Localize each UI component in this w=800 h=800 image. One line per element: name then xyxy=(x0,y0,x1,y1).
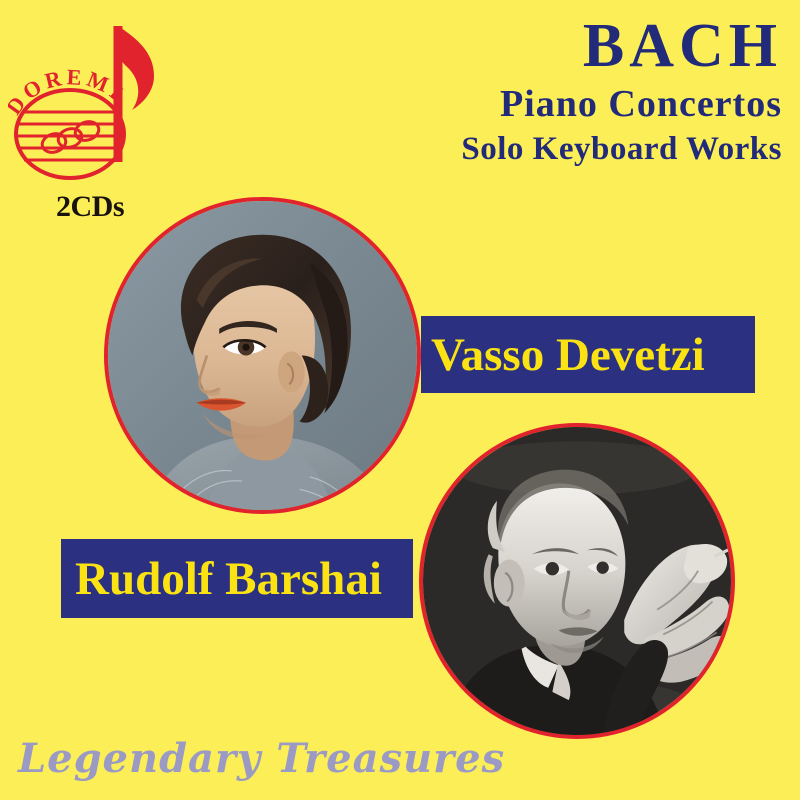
performer-name-devetzi: Vasso Devetzi xyxy=(431,328,705,382)
portrait-rudolf-barshai xyxy=(419,423,735,739)
performer-banner-devetzi: Vasso Devetzi xyxy=(421,316,755,393)
composer-title: BACH xyxy=(312,14,782,78)
performer-banner-barshai: Rudolf Barshai xyxy=(61,539,413,618)
album-cover: DOREMI 2CDs BACH Piano Concertos Solo Ke… xyxy=(0,0,800,800)
subtitle-line-2: Solo Keyboard Works xyxy=(312,130,782,170)
title-block: BACH Piano Concertos Solo Keyboard Works xyxy=(312,14,782,170)
doremi-logo: DOREMI 2CDs xyxy=(8,12,188,212)
portrait-barshai-image xyxy=(423,427,731,735)
eighth-note-icon: DOREMI xyxy=(8,12,188,212)
performer-name-barshai: Rudolf Barshai xyxy=(75,552,382,606)
series-label: Legendary Treasures xyxy=(18,735,505,782)
portrait-devetzi-image xyxy=(108,201,417,510)
disc-count-label: 2CDs xyxy=(30,190,150,224)
subtitle-line-1: Piano Concertos xyxy=(312,82,782,127)
portrait-vasso-devetzi xyxy=(104,197,421,514)
